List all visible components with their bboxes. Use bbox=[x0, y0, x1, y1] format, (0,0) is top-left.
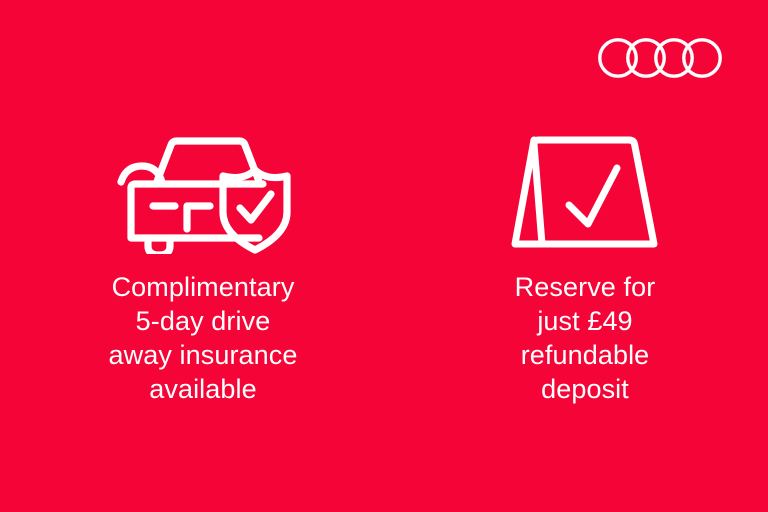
feature-deposit-text: Reserve for just £49 refundable deposit bbox=[515, 270, 656, 406]
folded-card-check-svg bbox=[510, 132, 660, 252]
folded-card-check-icon bbox=[510, 128, 660, 256]
promo-banner: Complimentary 5-day drive away insurance… bbox=[0, 0, 768, 512]
car-shield-svg bbox=[115, 130, 291, 254]
feature-list: Complimentary 5-day drive away insurance… bbox=[0, 128, 768, 406]
car-shield-icon bbox=[115, 128, 291, 256]
feature-insurance-text: Complimentary 5-day drive away insurance… bbox=[108, 270, 297, 406]
feature-refundable-deposit: Reserve for just £49 refundable deposit bbox=[435, 128, 735, 406]
audi-four-rings-icon bbox=[598, 36, 730, 80]
audi-rings-svg bbox=[598, 36, 730, 80]
feature-complimentary-insurance: Complimentary 5-day drive away insurance… bbox=[33, 128, 373, 406]
